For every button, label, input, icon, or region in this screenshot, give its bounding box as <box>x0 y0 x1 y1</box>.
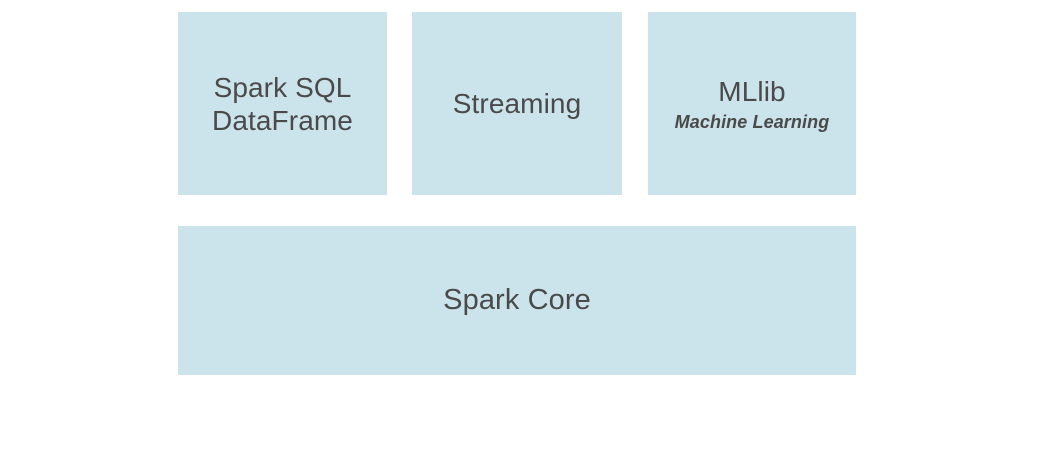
component-box-streaming[interactable]: Streaming <box>412 12 622 195</box>
component-box-spark-sql[interactable]: Spark SQL DataFrame <box>178 12 387 195</box>
diagram-canvas: Spark SQL DataFrame Streaming MLlib Mach… <box>0 0 1053 457</box>
component-subtitle-mllib: Machine Learning <box>675 111 830 133</box>
component-title-mllib: MLlib <box>718 75 785 108</box>
component-title-streaming: Streaming <box>453 87 582 120</box>
component-box-spark-core[interactable]: Spark Core <box>178 226 856 375</box>
component-title-spark-sql: Spark SQL DataFrame <box>212 71 353 137</box>
component-box-mllib[interactable]: MLlib Machine Learning <box>648 12 856 195</box>
component-title-spark-core: Spark Core <box>443 284 591 317</box>
